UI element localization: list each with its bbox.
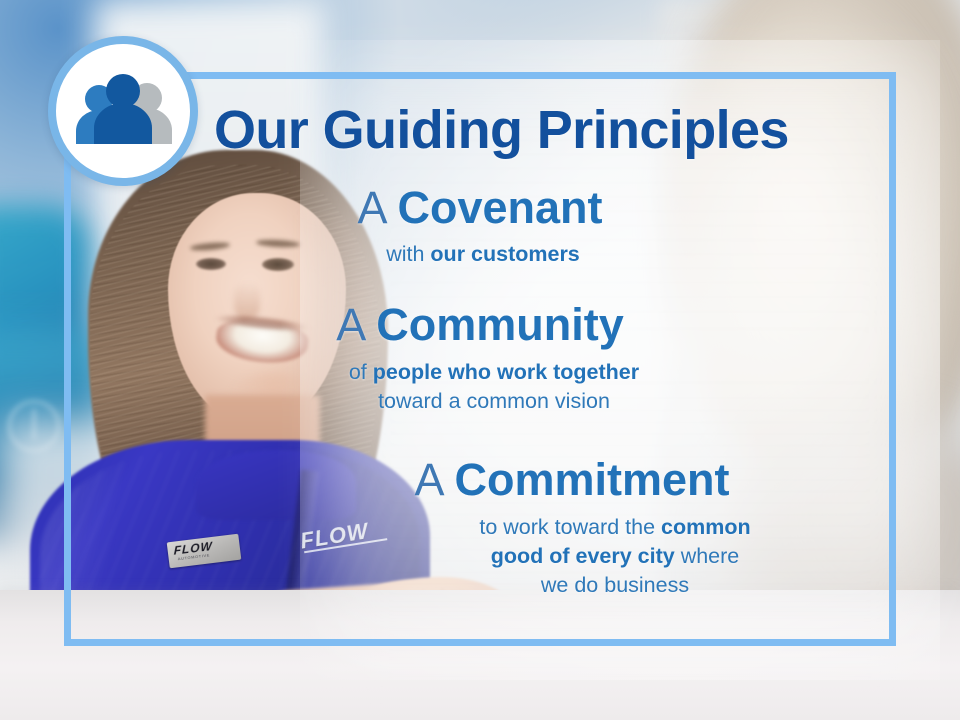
subtext-plain: of bbox=[349, 360, 373, 384]
people-group-icon bbox=[71, 74, 175, 148]
principle-heading: A Covenant bbox=[64, 185, 896, 232]
subtext-plain: to work toward the bbox=[479, 515, 661, 539]
subtext-emphasis: our customers bbox=[430, 242, 579, 266]
principle-keyword: Community bbox=[376, 299, 624, 350]
subtext-emphasis: common bbox=[661, 515, 751, 539]
subtext-plain: where bbox=[675, 544, 740, 568]
principle-subtext: with our customers bbox=[64, 240, 896, 269]
subtext-plain: we do business bbox=[541, 573, 689, 597]
principle-heading: A Commitment bbox=[156, 457, 960, 504]
subtext-plain: with bbox=[386, 242, 430, 266]
principle-subtext: of people who work togethertoward a comm… bbox=[64, 358, 896, 416]
text-content: Our Guiding Principles A Covenant with o… bbox=[64, 72, 896, 646]
principle-subtext: to work toward the commongood of every c… bbox=[156, 513, 960, 601]
principle-article: A bbox=[357, 182, 397, 233]
principle-heading: A Community bbox=[64, 302, 896, 349]
principle-keyword: Covenant bbox=[398, 182, 603, 233]
subtext-emphasis: people who work together bbox=[373, 360, 639, 384]
people-badge bbox=[48, 36, 198, 186]
principle-article: A bbox=[336, 299, 376, 350]
guiding-principles-graphic: FLOW AUTOMOTIVE FLOW Our Guiding Princip… bbox=[0, 0, 960, 720]
page-title: Our Guiding Principles bbox=[214, 99, 894, 161]
subtext-plain: toward a common vision bbox=[378, 389, 610, 413]
principle-community: A Community of people who work togethert… bbox=[64, 302, 924, 416]
principle-covenant: A Covenant with our customers bbox=[64, 185, 960, 269]
principle-keyword: Commitment bbox=[455, 454, 730, 505]
subtext-emphasis: good of every city bbox=[491, 544, 675, 568]
principle-article: A bbox=[414, 454, 454, 505]
principle-commitment: A Commitment to work toward the commongo… bbox=[64, 457, 960, 601]
